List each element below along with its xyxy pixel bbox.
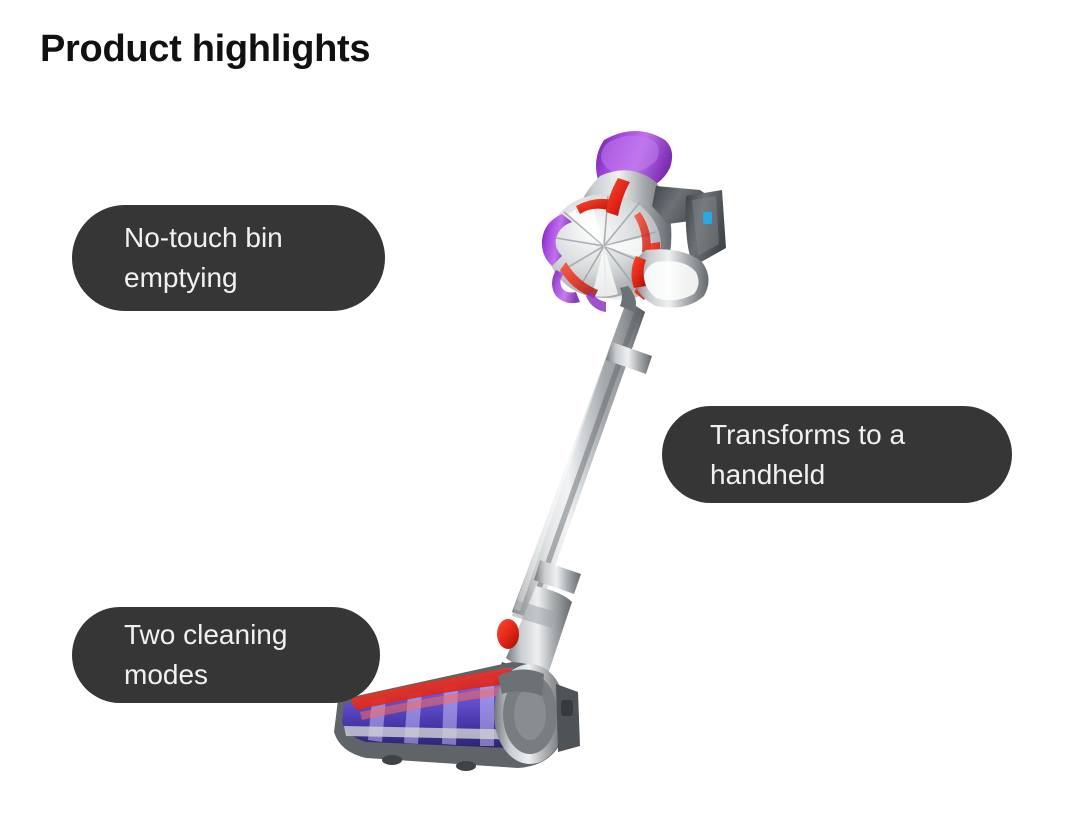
cyclone-shroud [542,214,606,312]
vacuum-wand [512,300,652,620]
callout-transforms-to-a-handheld[interactable]: Transforms to a handheld [662,406,1012,503]
callout-label: No-touch bin emptying [124,218,283,298]
callout-label: Two cleaning modes [124,615,287,695]
callout-no-touch-bin-emptying[interactable]: No-touch bin emptying [72,205,385,311]
callout-label: Transforms to a handheld [710,415,905,495]
cleaning-mode-button [497,619,519,649]
page-title: Product highlights [40,28,370,71]
vacuum-lower-neck [496,586,572,692]
product-highlights-page: Product highlights [0,0,1080,836]
cyclone-cone-array [547,194,661,298]
power-trigger [631,256,646,288]
cleaner-head-end-cap [494,664,580,764]
vacuum-cyclone-body [542,131,672,312]
battery-indicator-led [703,212,712,224]
vacuum-handle-assembly [620,186,726,312]
callout-two-cleaning-modes[interactable]: Two cleaning modes [72,607,380,703]
